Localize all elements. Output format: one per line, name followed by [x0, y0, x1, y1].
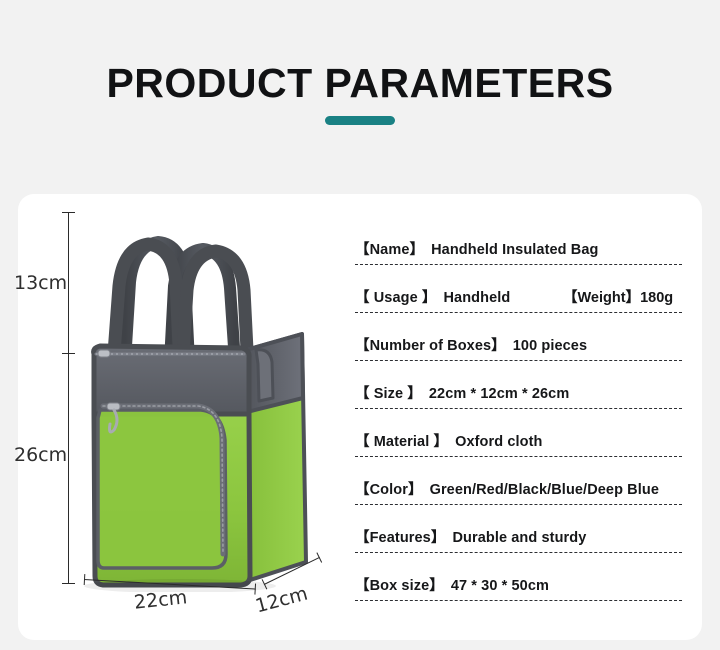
spec-value: Oxford cloth — [448, 434, 542, 450]
product-figure: 13cm 26cm 22cm 12cm — [18, 194, 358, 640]
spec-value: Green/Red/Black/Blue/Deep Blue — [423, 482, 659, 498]
spec-value-secondary: 180g — [640, 290, 673, 306]
title-accent-rule — [325, 116, 395, 125]
spec-value: 100 pieces — [506, 338, 587, 354]
spec-divider — [355, 504, 682, 505]
spec-line: 【 Usage 】Handheld — [355, 286, 510, 307]
spec-row-material: 【 Material 】Oxford cloth — [355, 430, 685, 478]
spec-label: 【Features】 — [355, 530, 445, 546]
spec-label: 【Number of Boxes】 — [355, 338, 506, 354]
spec-divider — [355, 264, 682, 265]
spec-label: 【Color】 — [355, 482, 423, 498]
content-card: 13cm 26cm 22cm 12cm 【Name】Handheld Insul… — [18, 194, 702, 640]
product-image-insulated-bag — [70, 202, 320, 592]
spec-line: 【 Material 】Oxford cloth — [355, 430, 542, 451]
spec-line: 【Features】Durable and sturdy — [355, 526, 586, 547]
vertical-dimension-cap-top — [62, 212, 75, 213]
spec-line: 【Name】Handheld Insulated Bag — [355, 238, 598, 259]
spec-value: Handheld Insulated Bag — [424, 242, 598, 258]
spec-divider — [355, 360, 682, 361]
spec-value: 22cm * 12cm * 26cm — [422, 386, 569, 402]
spec-line-secondary: 【Weight】180g — [563, 286, 673, 307]
top-zipper-pull-icon — [98, 350, 110, 357]
vertical-dimension-cap-bottom — [62, 583, 75, 584]
spec-label: 【 Material 】 — [355, 434, 448, 450]
spec-divider — [355, 600, 682, 601]
spec-value: Durable and sturdy — [445, 530, 586, 546]
spec-line: 【Number of Boxes】100 pieces — [355, 334, 587, 355]
spec-row-color: 【Color】Green/Red/Black/Blue/Deep Blue — [355, 478, 685, 526]
spec-value: Handheld — [436, 290, 510, 306]
spec-divider — [355, 456, 682, 457]
spec-label-secondary: 【Weight】 — [563, 290, 640, 306]
spec-row-number-of-boxes: 【Number of Boxes】100 pieces — [355, 334, 685, 382]
page-title: PRODUCT PARAMETERS — [0, 58, 720, 108]
spec-value: 47 * 30 * 50cm — [444, 578, 549, 594]
spec-line: 【Color】Green/Red/Black/Blue/Deep Blue — [355, 478, 659, 499]
spec-label: 【 Size 】 — [355, 386, 422, 402]
vertical-dimension-cap-middle — [62, 353, 75, 354]
product-spec-list: 【Name】Handheld Insulated Bag 【 Usage 】Ha… — [355, 238, 685, 622]
spec-row-features: 【Features】Durable and sturdy — [355, 526, 685, 574]
spec-label: 【 Usage 】 — [355, 290, 436, 306]
spec-row-box-size: 【Box size】47 * 30 * 50cm — [355, 574, 685, 622]
spec-divider — [355, 408, 682, 409]
spec-label: 【Box size】 — [355, 578, 444, 594]
spec-row-size: 【 Size 】22cm * 12cm * 26cm — [355, 382, 685, 430]
dimension-label-body-width: 22cm — [133, 586, 188, 613]
page-header: PRODUCT PARAMETERS — [0, 0, 720, 178]
spec-line: 【Box size】47 * 30 * 50cm — [355, 574, 549, 595]
spec-row-name: 【Name】Handheld Insulated Bag — [355, 238, 685, 286]
dimension-label-handle-height: 13cm — [14, 272, 67, 294]
vertical-dimension-line — [68, 212, 69, 583]
dimension-label-body-height: 26cm — [14, 444, 67, 466]
spec-row-usage-weight: 【 Usage 】Handheld 【Weight】180g — [355, 286, 685, 334]
spec-divider — [355, 312, 682, 313]
spec-line: 【 Size 】22cm * 12cm * 26cm — [355, 382, 569, 403]
spec-divider — [355, 552, 682, 553]
spec-label: 【Name】 — [355, 242, 424, 258]
